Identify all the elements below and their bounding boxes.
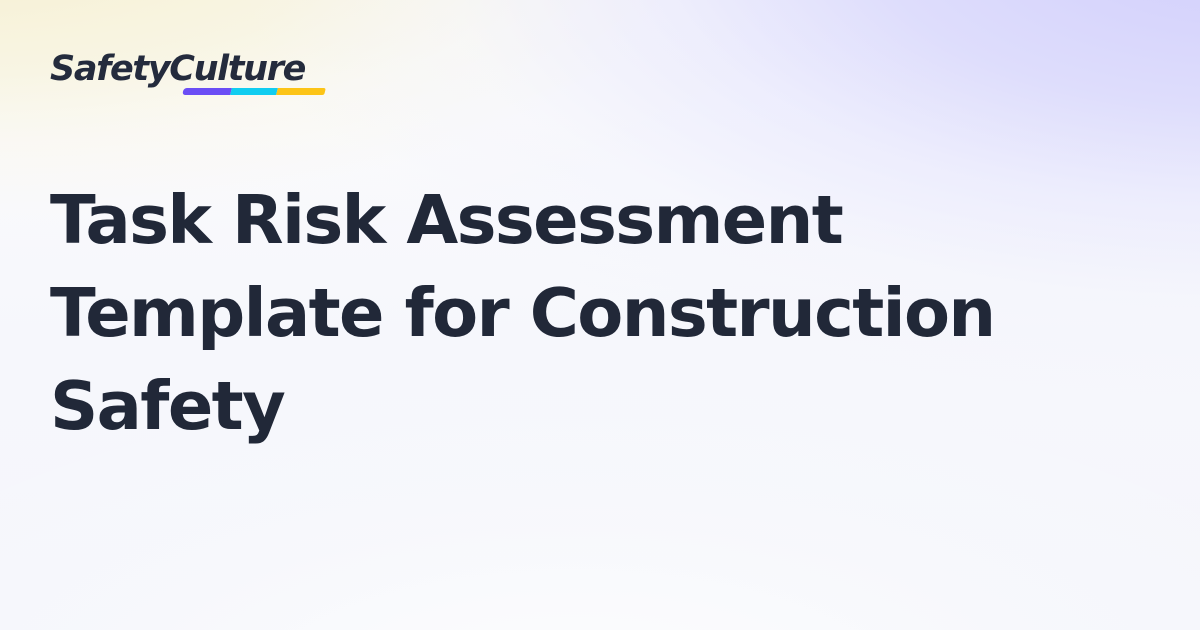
logo-underline-accent <box>182 88 326 95</box>
safetyculture-logo[interactable]: SafetyCulture <box>50 47 340 105</box>
page-title-line-3: Safety <box>50 360 1030 453</box>
page-title: Task Risk Assessment Template for Constr… <box>50 174 1030 453</box>
logo-wordmark: SafetyCulture <box>50 47 305 91</box>
og-card: SafetyCulture Task Risk Assessment Templ… <box>0 0 1200 630</box>
logo-underline-segment-purple <box>182 88 232 95</box>
logo-underline-segment-yellow <box>276 88 326 95</box>
logo-underline-segment-cyan <box>230 88 277 95</box>
page-title-line-1: Task Risk Assessment <box>50 174 1030 267</box>
page-title-line-2: Template for Construction <box>50 267 1030 360</box>
